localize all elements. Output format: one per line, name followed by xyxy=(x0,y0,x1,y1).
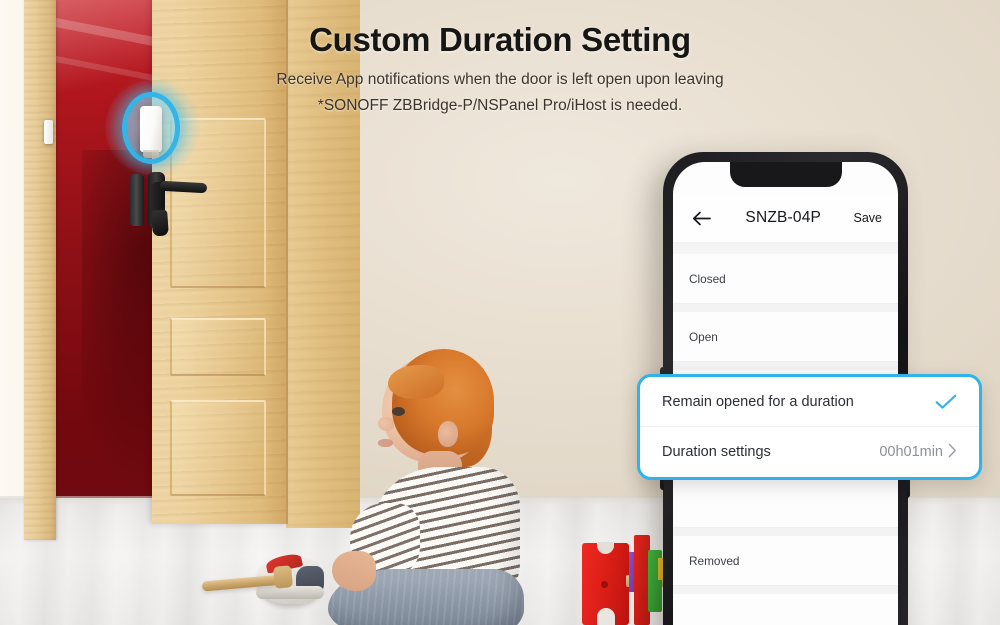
list-item-open[interactable]: Open xyxy=(673,312,898,362)
child-shoe-sole xyxy=(256,586,324,599)
list-item-label: Closed xyxy=(689,272,882,286)
door-panel-middle xyxy=(170,318,266,376)
list-item-label: Removed xyxy=(689,554,882,568)
list-item-duration-underlay[interactable] xyxy=(673,478,898,528)
list-item-removed[interactable]: Removed xyxy=(673,536,898,586)
child-nose xyxy=(378,417,394,431)
child-eye xyxy=(392,407,405,416)
list-separator xyxy=(673,586,898,594)
wooden-stick-toy-head xyxy=(273,565,293,588)
promo-scene: Custom Duration Setting Receive App noti… xyxy=(0,0,1000,625)
arrow-left-icon[interactable] xyxy=(689,206,713,230)
door-jamb xyxy=(24,0,56,540)
duration-settings-label: Duration settings xyxy=(662,444,879,460)
highlighted-duration-card: Remain opened for a duration Duration se… xyxy=(637,374,982,480)
door-handle-tip xyxy=(151,209,169,236)
app-page-title: SNZB-04P xyxy=(713,209,854,227)
duration-settings-value: 00h01min xyxy=(879,444,943,460)
door-lock-plate xyxy=(130,174,144,226)
sensor-base xyxy=(143,150,159,158)
child-lips xyxy=(378,439,393,447)
option-duration-settings[interactable]: Duration settings 00h01min xyxy=(640,427,979,477)
check-icon xyxy=(935,394,957,410)
child-arm xyxy=(332,551,376,591)
list-top-gap xyxy=(673,242,898,254)
child-sitting xyxy=(330,355,560,610)
door-window-sensor xyxy=(140,106,162,152)
option-label: Remain opened for a duration xyxy=(662,394,935,410)
phone-notch xyxy=(730,162,842,187)
option-remain-opened-for-a-duration[interactable]: Remain opened for a duration xyxy=(640,377,979,427)
list-item-closed[interactable]: Closed xyxy=(673,254,898,304)
toy-block-notch xyxy=(597,608,615,625)
save-button[interactable]: Save xyxy=(854,211,883,225)
child-ear xyxy=(438,421,458,447)
list-separator xyxy=(673,304,898,312)
app-navbar: SNZB-04P Save xyxy=(673,194,898,242)
list-item-label: Open xyxy=(689,330,882,344)
sensor-magnet xyxy=(44,120,53,144)
list-separator xyxy=(673,362,898,370)
child-fringe xyxy=(388,365,444,399)
chevron-right-icon xyxy=(948,443,957,461)
list-separator xyxy=(673,528,898,536)
door-panel-lower xyxy=(170,400,266,496)
